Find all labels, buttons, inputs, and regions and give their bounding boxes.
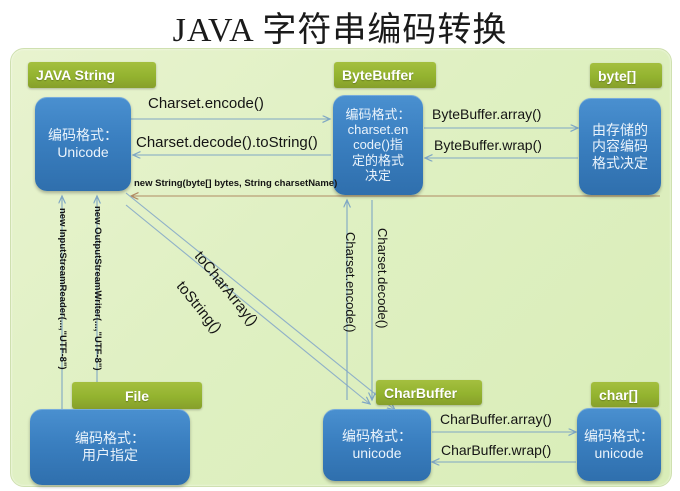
node-header-char-buffer[interactable]: CharBuffer: [376, 380, 482, 405]
node-line: Unicode: [57, 144, 108, 161]
edge-label-charset-decode-vertical: Charset.decode(): [375, 228, 390, 328]
node-line: charset.en: [348, 122, 409, 137]
node-header-label: ByteBuffer: [342, 67, 414, 83]
node-line: 编码格式：: [584, 428, 654, 445]
node-header-java-string[interactable]: JAVA String: [28, 62, 156, 88]
node-line: 由存储的: [592, 122, 648, 139]
edge-label-bytebuffer-wrap: ByteBuffer.wrap(): [434, 137, 542, 153]
diagram-canvas: JAVA 字符串编码转换 JA: [0, 0, 680, 491]
node-line: 编码格式：: [342, 428, 412, 445]
node-line: unicode: [352, 445, 401, 462]
node-header-label: JAVA String: [36, 67, 115, 83]
node-header-char-array[interactable]: char[]: [591, 382, 659, 407]
node-line: 编码格式：: [75, 430, 145, 447]
node-header-file[interactable]: File: [72, 382, 202, 409]
node-header-label: char[]: [599, 387, 638, 403]
node-line: 内容编码: [592, 138, 648, 155]
node-byte-buffer[interactable]: 编码格式： charset.en code()指 定的格式 决定: [333, 95, 423, 195]
node-java-string[interactable]: 编码格式： Unicode: [35, 97, 131, 191]
edge-label-output-stream-writer: new OutputStreamWriter(...,"UTF-8"): [92, 206, 103, 371]
node-line: 编码格式：: [48, 127, 118, 144]
edge-label-input-stream-reader: new InputStreamReader(...,"UTF-8"): [57, 208, 68, 370]
node-line: 用户指定: [82, 447, 138, 464]
node-header-byte-buffer[interactable]: ByteBuffer: [334, 62, 436, 88]
edge-label-charbuffer-wrap: CharBuffer.wrap(): [441, 442, 551, 458]
edge-label-charbuffer-array: CharBuffer.array(): [440, 411, 552, 427]
node-byte-array[interactable]: 由存储的 内容编码 格式决定: [579, 98, 661, 195]
node-header-label: File: [125, 388, 149, 404]
node-file[interactable]: 编码格式： 用户指定: [30, 409, 190, 485]
node-line: code()指: [353, 137, 403, 152]
node-header-byte-array[interactable]: byte[]: [590, 63, 662, 88]
node-line: 定的格式: [352, 153, 404, 168]
edge-label-charset-encode-vertical: Charset.encode(): [343, 232, 358, 332]
edge-label-charset-decode-tostring: Charset.decode().toString(): [136, 134, 318, 151]
node-header-label: CharBuffer: [384, 385, 457, 401]
node-header-label: byte[]: [598, 68, 636, 84]
node-line: 格式决定: [592, 155, 648, 172]
node-char-buffer[interactable]: 编码格式： unicode: [323, 409, 431, 481]
node-line: 编码格式：: [345, 107, 410, 122]
edge-label-new-string: new String(byte[] bytes, String charsetN…: [134, 178, 337, 189]
edge-label-charset-encode: Charset.encode(): [148, 95, 264, 112]
node-line: 决定: [365, 168, 391, 183]
edge-label-bytebuffer-array: ByteBuffer.array(): [432, 106, 541, 122]
node-line: unicode: [594, 445, 643, 462]
node-char-array[interactable]: 编码格式： unicode: [577, 408, 661, 481]
